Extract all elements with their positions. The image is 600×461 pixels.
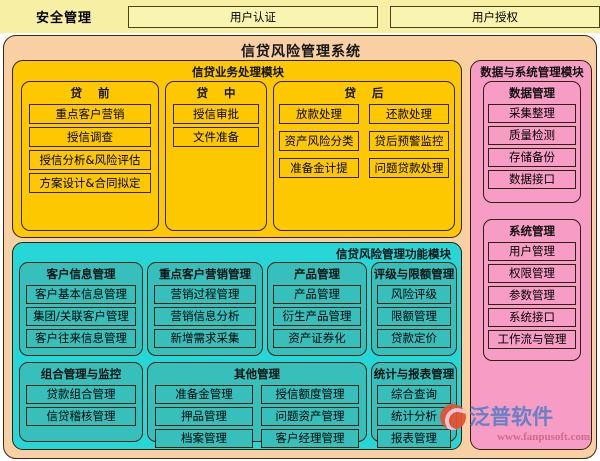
customer-info-item-basic[interactable]: 客户基本信息管理 <box>26 285 136 304</box>
user-authorization-button[interactable]: 用户授权 <box>390 6 600 28</box>
rating-item-limit-management[interactable]: 限额管理 <box>377 307 451 326</box>
data-item-collection-sorting[interactable]: 采集整理 <box>488 104 576 123</box>
security-management-bar: 安全管理 用户认证 用户授权 <box>0 0 600 33</box>
system-item-parameter-management[interactable]: 参数管理 <box>488 286 576 305</box>
other-item-collateral-management[interactable]: 押品管理 <box>155 407 253 426</box>
other-item-credit-limit-management[interactable]: 授信额度管理 <box>261 385 359 404</box>
risk-management-module: 信贷风险管理功能模块 客户信息管理 客户基本信息管理 集团/关联客户管理 客户往… <box>12 242 462 450</box>
pre-loan-item-credit-investigation[interactable]: 授信调查 <box>29 127 151 147</box>
credit-business-module: 信贷业务处理模块 贷 前 重点客户营销 授信调查 授信分析&风险评估 方案设计&… <box>12 60 462 238</box>
other-management-group: 其他管理 准备金管理 授信额度管理 押品管理 问题资产管理 档案管理 客户经理管… <box>147 362 367 442</box>
report-item-report-management[interactable]: 报表管理 <box>377 429 451 448</box>
key-customer-item-new-demand-collection[interactable]: 新增需求采集 <box>154 329 256 348</box>
other-item-account-manager-management[interactable]: 客户经理管理 <box>261 429 359 448</box>
customer-info-item-transactions[interactable]: 客户往来信息管理 <box>26 329 136 348</box>
other-management-title: 其他管理 <box>148 366 366 382</box>
data-item-data-interface[interactable]: 数据接口 <box>488 170 576 189</box>
data-item-quality-inspection[interactable]: 质量检测 <box>488 126 576 145</box>
system-title: 信贷风险管理系统 <box>4 41 597 61</box>
system-item-system-interface[interactable]: 系统接口 <box>488 308 576 327</box>
post-loan-item-repayment[interactable]: 还款处理 <box>369 104 449 124</box>
customer-info-group: 客户信息管理 客户基本信息管理 集团/关联客户管理 客户往来信息管理 <box>19 262 143 356</box>
pre-loan-item-key-customer-marketing[interactable]: 重点客户营销 <box>29 104 151 124</box>
data-system-module-title: 数据与系统管理模块 <box>471 64 593 80</box>
product-item-product-management[interactable]: 产品管理 <box>273 285 361 304</box>
other-item-provision-management[interactable]: 准备金管理 <box>155 385 253 404</box>
user-authentication-button[interactable]: 用户认证 <box>128 6 378 28</box>
portfolio-monitoring-group: 组合管理与监控 贷款组合管理 信贷稽核管理 <box>19 362 143 442</box>
other-item-problem-asset-management[interactable]: 问题资产管理 <box>261 407 359 426</box>
statistics-report-group: 统计与报表管理 综合查询 统计分析 报表管理 <box>371 362 457 442</box>
risk-management-module-title: 信贷风险管理功能模块 <box>336 246 451 262</box>
pre-loan-item-scheme-design-contract-drafting[interactable]: 方案设计&合同拟定 <box>29 173 151 193</box>
pre-loan-title: 贷 前 <box>22 85 158 101</box>
report-item-comprehensive-query[interactable]: 综合查询 <box>377 385 451 404</box>
product-item-asset-securitization[interactable]: 资产证券化 <box>273 329 361 348</box>
system-management-group: 系统管理 用户管理 权限管理 参数管理 系统接口 工作流与管理 <box>483 219 581 361</box>
key-customer-marketing-group: 重点客户营销管理 营销过程管理 营销信息分析 新增需求采集 <box>147 262 263 356</box>
key-customer-marketing-title: 重点客户营销管理 <box>148 266 262 282</box>
in-loan-item-document-preparation[interactable]: 文件准备 <box>173 127 259 147</box>
security-management-title: 安全管理 <box>0 7 128 26</box>
customer-info-item-group-related[interactable]: 集团/关联客户管理 <box>26 307 136 326</box>
pre-loan-item-credit-analysis-risk-assessment[interactable]: 授信分析&风险评估 <box>29 150 151 170</box>
other-item-archive-management[interactable]: 档案管理 <box>155 429 253 448</box>
rating-item-risk-rating[interactable]: 风险评级 <box>377 285 451 304</box>
post-loan-item-provision-accrual[interactable]: 准备金计提 <box>279 158 359 178</box>
post-loan-item-asset-risk-classification[interactable]: 资产风险分类 <box>279 131 359 151</box>
post-loan-item-early-warning-monitoring[interactable]: 贷后预警监控 <box>369 131 449 151</box>
customer-info-title: 客户信息管理 <box>20 266 142 282</box>
system-item-workflow-management[interactable]: 工作流与管理 <box>488 330 576 349</box>
post-loan-group: 贷 后 放款处理 还款处理 资产风险分类 贷后预警监控 准备金计提 问题贷款处理 <box>273 81 455 231</box>
data-item-storage-backup[interactable]: 存储备份 <box>488 148 576 167</box>
rating-item-loan-pricing[interactable]: 贷款定价 <box>377 329 451 348</box>
rating-limit-group: 评级与限额管理 风险评级 限额管理 贷款定价 <box>371 262 457 356</box>
system-item-user-management[interactable]: 用户管理 <box>488 242 576 261</box>
system-frame: 信贷风险管理系统 信贷业务处理模块 贷 前 重点客户营销 授信调查 授信分析&风… <box>3 35 597 459</box>
key-customer-item-marketing-process[interactable]: 营销过程管理 <box>154 285 256 304</box>
portfolio-item-credit-audit[interactable]: 信贷稽核管理 <box>26 407 136 426</box>
data-management-title: 数据管理 <box>484 85 580 101</box>
post-loan-item-disbursement[interactable]: 放款处理 <box>279 104 359 124</box>
statistics-report-title: 统计与报表管理 <box>372 366 456 382</box>
in-loan-group: 贷 中 授信审批 文件准备 <box>165 81 267 231</box>
product-management-title: 产品管理 <box>268 266 366 282</box>
product-management-group: 产品管理 产品管理 衍生产品管理 资产证券化 <box>267 262 367 356</box>
in-loan-item-credit-approval[interactable]: 授信审批 <box>173 104 259 124</box>
credit-business-module-title: 信贷业务处理模块 <box>13 64 463 80</box>
rating-limit-title: 评级与限额管理 <box>372 266 456 282</box>
key-customer-item-marketing-analysis[interactable]: 营销信息分析 <box>154 307 256 326</box>
in-loan-title: 贷 中 <box>166 85 266 101</box>
data-management-group: 数据管理 采集整理 质量检测 存储备份 数据接口 <box>483 81 581 203</box>
product-item-derivative-management[interactable]: 衍生产品管理 <box>273 307 361 326</box>
post-loan-title: 贷 后 <box>274 85 454 101</box>
post-loan-item-problem-loan-handling[interactable]: 问题贷款处理 <box>369 158 449 178</box>
system-management-title: 系统管理 <box>484 223 580 239</box>
report-item-statistical-analysis[interactable]: 统计分析 <box>377 407 451 426</box>
data-system-module: 数据与系统管理模块 数据管理 采集整理 质量检测 存储备份 数据接口 系统管理 … <box>470 60 592 450</box>
portfolio-item-loan-portfolio[interactable]: 贷款组合管理 <box>26 385 136 404</box>
portfolio-monitoring-title: 组合管理与监控 <box>20 366 142 382</box>
system-item-permission-management[interactable]: 权限管理 <box>488 264 576 283</box>
pre-loan-group: 贷 前 重点客户营销 授信调查 授信分析&风险评估 方案设计&合同拟定 <box>21 81 159 231</box>
